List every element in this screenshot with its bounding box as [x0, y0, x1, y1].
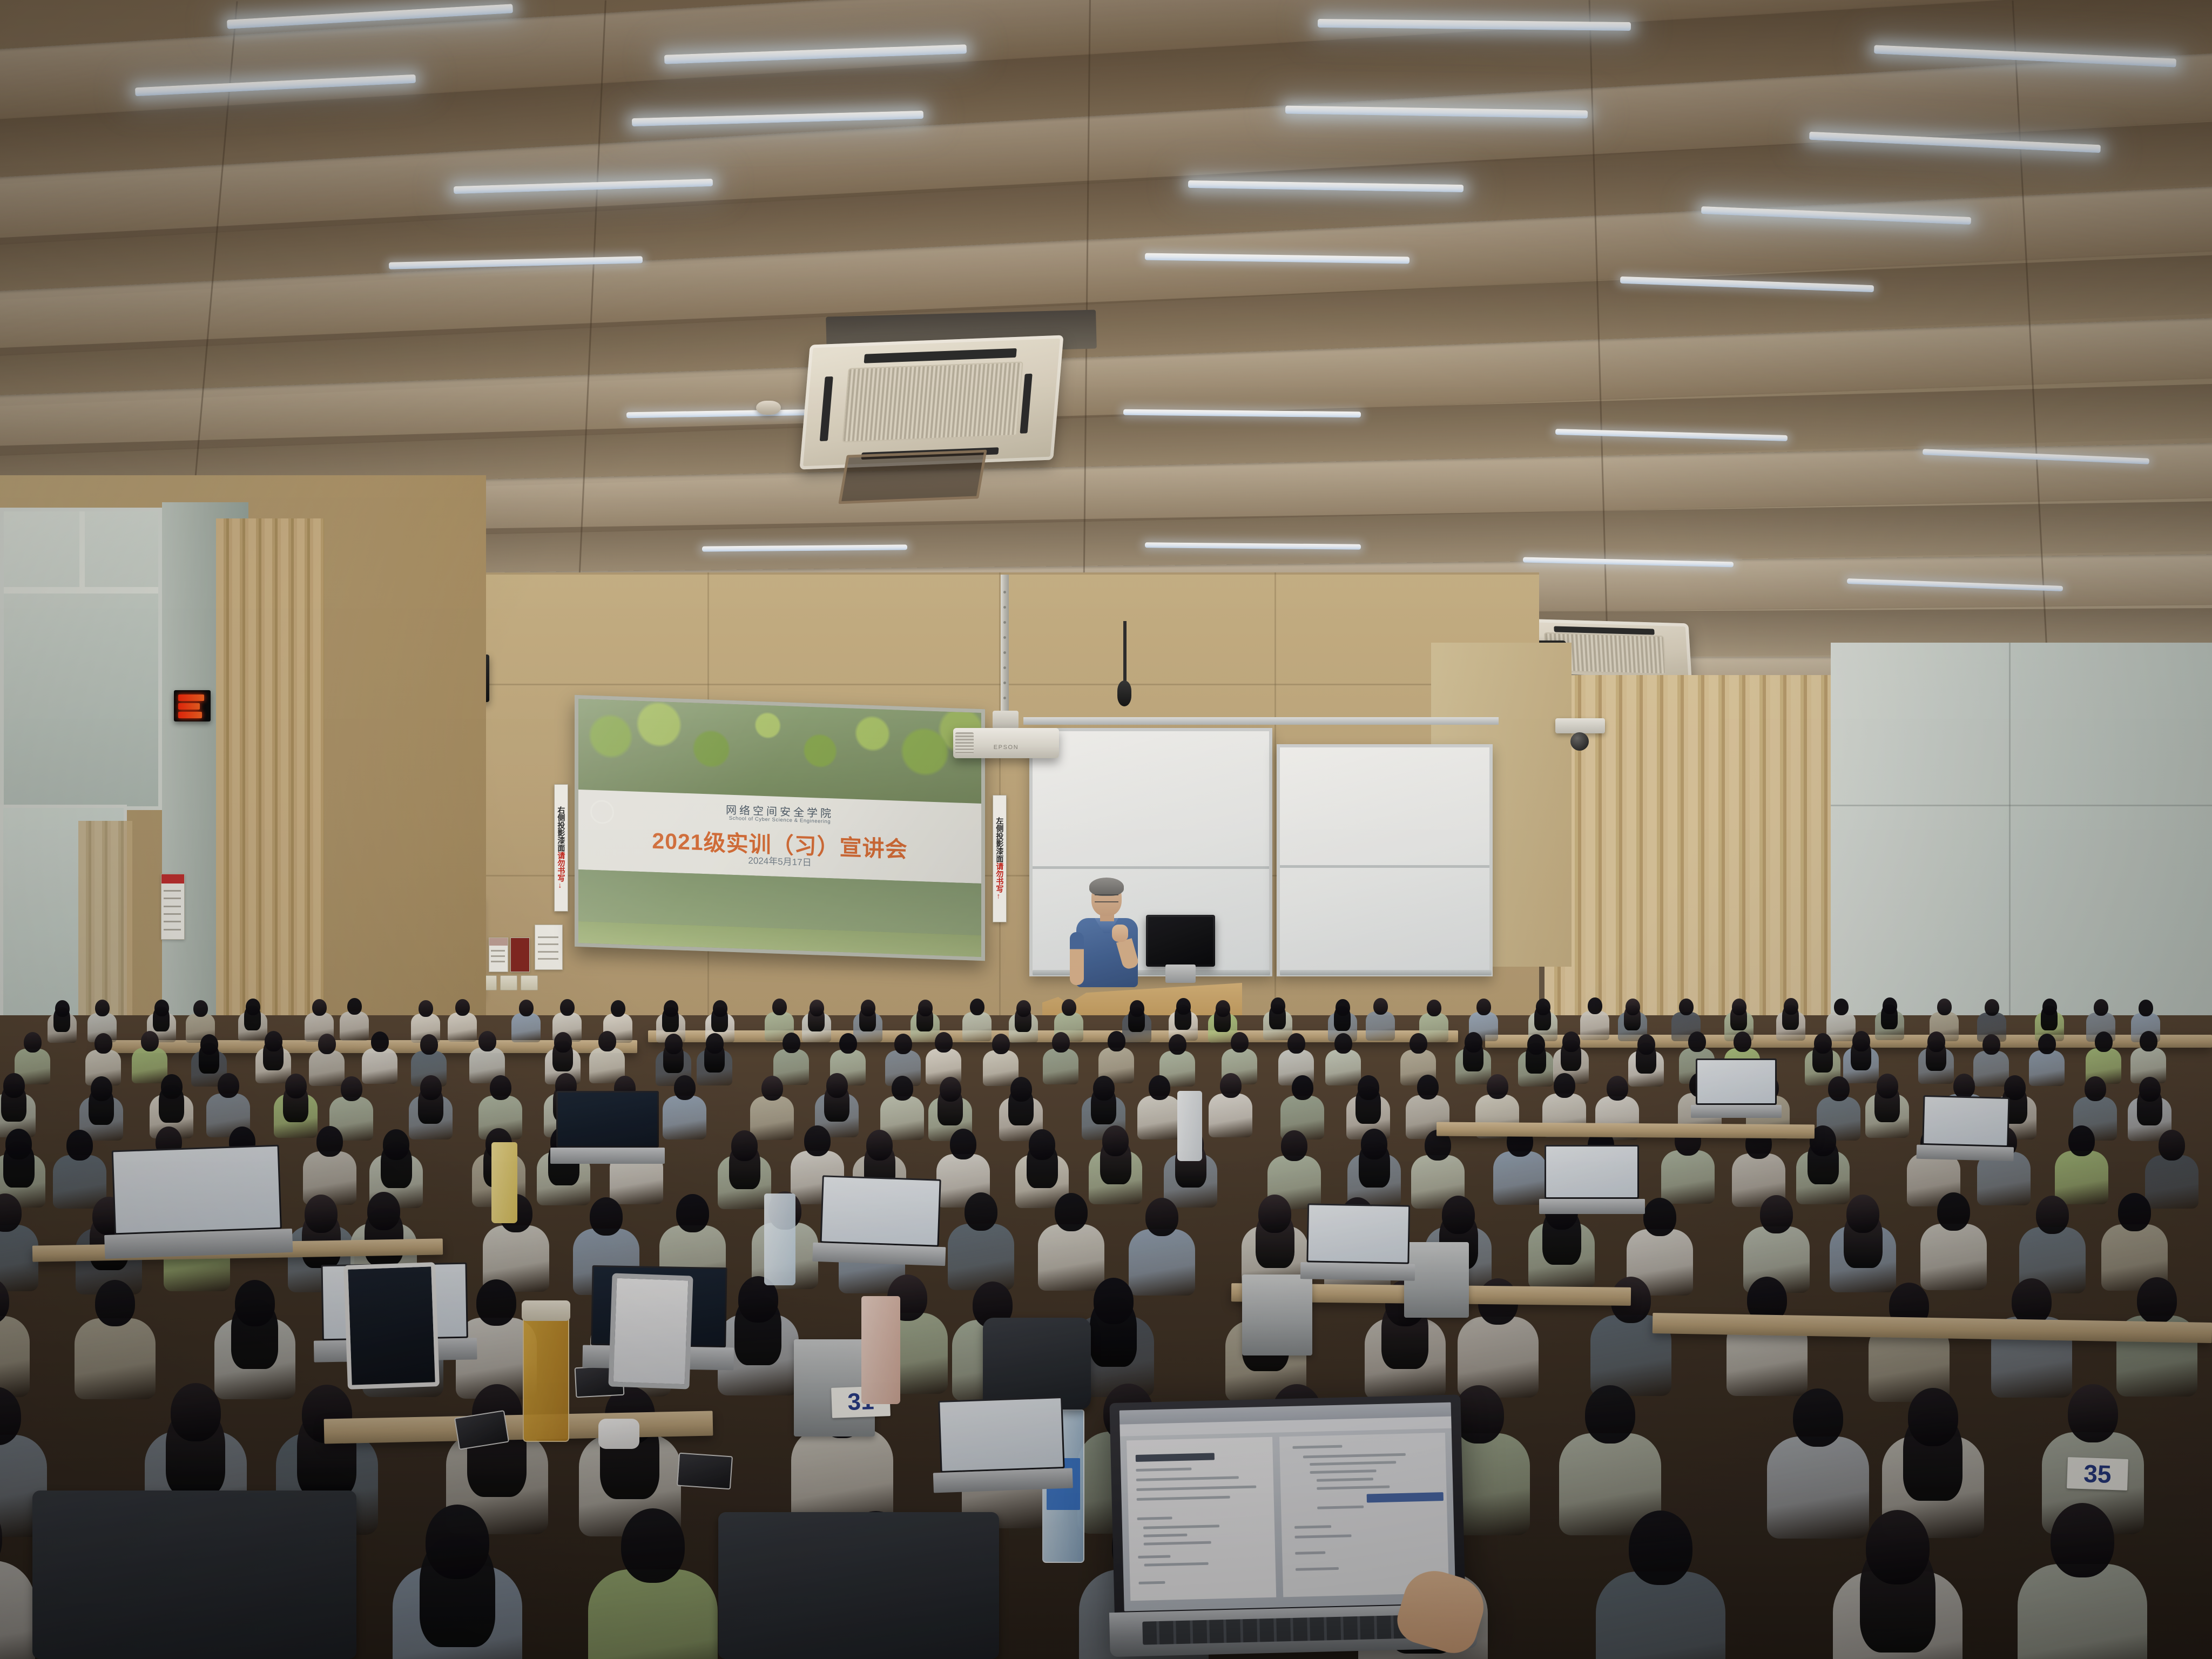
student	[1727, 1277, 1808, 1404]
student	[588, 1508, 718, 1659]
student-head	[1688, 1031, 1706, 1052]
student-head	[367, 1192, 400, 1230]
student-head	[1029, 1129, 1055, 1160]
student-head	[2068, 1384, 2118, 1442]
student-head	[1487, 1074, 1508, 1099]
student-head	[826, 1073, 848, 1098]
student	[511, 1000, 541, 1046]
student-head	[2038, 1034, 2056, 1054]
student-head	[1927, 1031, 1945, 1052]
student-head	[1287, 1033, 1305, 1054]
student-head	[316, 1126, 343, 1157]
student-head	[341, 1076, 362, 1101]
whiteboard-right	[1277, 744, 1493, 976]
student-head	[1679, 999, 1694, 1015]
student	[0, 1500, 35, 1659]
student-head	[810, 1000, 824, 1016]
desk-row	[1437, 1122, 1815, 1139]
student-head	[1793, 1388, 1843, 1447]
student-head	[1476, 999, 1491, 1015]
student	[393, 1505, 522, 1659]
student-head	[839, 1033, 857, 1054]
backpack	[983, 1318, 1091, 1410]
laptop[interactable]	[1696, 1058, 1777, 1118]
student-head	[1985, 999, 1999, 1016]
student-head	[1982, 1034, 2000, 1055]
student-head	[950, 1129, 976, 1159]
student-head	[2036, 1196, 2069, 1234]
student-head	[1883, 997, 1897, 1014]
student-torso	[1043, 1049, 1078, 1084]
student-head	[2094, 999, 2108, 1016]
student-head	[664, 1000, 678, 1017]
student-head	[2051, 1503, 2114, 1577]
student-head	[676, 1194, 709, 1232]
student-torso	[0, 1561, 35, 1659]
student	[1833, 1510, 1963, 1659]
student-head	[1937, 999, 1952, 1015]
student-head	[1334, 1033, 1352, 1054]
student-head	[285, 1074, 307, 1098]
student-head	[665, 1034, 683, 1054]
student-head	[1149, 1075, 1170, 1100]
student-head	[1442, 1196, 1475, 1234]
student-head	[66, 1130, 93, 1161]
student-head	[918, 1000, 933, 1016]
student-head	[861, 1000, 875, 1016]
student-head	[1094, 1278, 1134, 1324]
student-head	[1231, 1032, 1249, 1053]
student-head	[490, 1075, 511, 1100]
student-head	[1417, 1075, 1439, 1100]
student-head	[305, 1195, 338, 1233]
student-torso	[1920, 1224, 1987, 1290]
projector: EPSON	[953, 728, 1059, 758]
student-torso	[0, 1316, 30, 1397]
student-head	[1814, 1033, 1832, 1054]
student-head	[731, 1130, 758, 1161]
hanging-microphone-icon	[1117, 680, 1131, 706]
projector-brand-label: EPSON	[953, 744, 1059, 751]
student-head	[894, 1034, 912, 1054]
student-head	[892, 1076, 913, 1101]
student-head	[1176, 998, 1191, 1015]
student	[663, 1075, 706, 1144]
student-head	[1734, 1031, 1751, 1052]
foreground-laptop[interactable]	[1104, 1394, 1477, 1657]
student-head	[1852, 1031, 1870, 1051]
thermos-bottle	[861, 1296, 900, 1404]
student-head	[1102, 1125, 1129, 1156]
student-head	[1258, 1195, 1291, 1233]
student-head	[171, 1383, 221, 1441]
window-frosted-glass	[0, 508, 162, 810]
student-head	[2159, 1130, 2185, 1161]
tea-bottle	[523, 1316, 569, 1442]
microphone-cable	[1123, 621, 1127, 683]
student-head	[91, 1076, 112, 1101]
tablet[interactable]	[608, 1273, 693, 1389]
no-writing-sign-left: 右侧投影漆面 请勿书写→	[554, 784, 568, 912]
student-head	[1093, 1076, 1115, 1101]
student-head	[1373, 998, 1388, 1015]
student-head	[2012, 1278, 2052, 1325]
student-head	[2139, 1077, 2161, 1102]
student-head	[2137, 1277, 2177, 1324]
student-torso	[1366, 1011, 1395, 1041]
student-head	[2042, 999, 2057, 1015]
student	[1875, 997, 1904, 1043]
student-head	[193, 1000, 208, 1017]
student	[1596, 1510, 1725, 1659]
student-head	[1732, 999, 1746, 1015]
student-head	[3, 1073, 25, 1098]
student-head	[674, 1075, 696, 1100]
sign-right-warn: 请勿书写←	[996, 862, 1004, 900]
student-head	[940, 1077, 961, 1102]
security-camera-mount	[1555, 718, 1605, 733]
student-head	[383, 1129, 409, 1160]
student-head	[1016, 1000, 1031, 1017]
student	[1920, 1192, 1987, 1297]
security-camera-icon	[1570, 732, 1589, 751]
student-head	[419, 1000, 433, 1017]
whiteboard-rail	[1023, 717, 1499, 725]
student-head	[1554, 1073, 1575, 1098]
sign-right-plain: 左侧投影漆面	[996, 817, 1004, 862]
student-head	[761, 1076, 783, 1101]
laptop[interactable]	[112, 1145, 283, 1259]
student-head	[1465, 1032, 1482, 1053]
student	[0, 1278, 30, 1405]
student-head	[2004, 1075, 2026, 1100]
student-head	[426, 1505, 489, 1579]
projection-screen: 网络空间安全学院 School of Cyber Science & Engin…	[575, 695, 985, 961]
podium-monitor	[1146, 915, 1215, 967]
student-head	[2085, 1076, 2106, 1101]
student-head	[935, 1032, 953, 1053]
air-conditioner-unit	[799, 335, 1063, 470]
student-head	[866, 1130, 893, 1161]
laptop[interactable]	[1306, 1203, 1410, 1280]
student-head	[95, 1280, 135, 1326]
student-head	[970, 999, 984, 1015]
student-head	[200, 1034, 218, 1055]
wall-notice	[161, 874, 185, 940]
chair-back	[1242, 1274, 1312, 1355]
student-head	[1626, 999, 1640, 1015]
student-head	[24, 1032, 42, 1053]
student-head	[161, 1074, 183, 1099]
student-head	[772, 999, 787, 1015]
student-head	[1877, 1074, 1898, 1098]
student	[48, 1000, 77, 1046]
student-head	[519, 1000, 534, 1016]
student-head	[1216, 1000, 1230, 1017]
wall-notice	[510, 938, 530, 972]
projector-bracket	[993, 711, 1019, 729]
laptop[interactable]	[819, 1175, 941, 1266]
student-torso	[948, 1224, 1014, 1290]
student-head	[783, 1033, 800, 1053]
desk-number-35: 35	[2067, 1457, 2128, 1491]
student-head	[1834, 999, 1849, 1015]
presenter	[1067, 880, 1148, 988]
laptop[interactable]	[1545, 1145, 1639, 1214]
student	[1043, 1032, 1078, 1088]
earbuds-case	[598, 1419, 639, 1449]
student-head	[318, 1034, 336, 1054]
student-head	[1427, 1000, 1441, 1016]
student-head	[1536, 999, 1550, 1015]
sign-left-warn: 请勿书写→	[557, 852, 565, 889]
student-head	[621, 1508, 685, 1583]
student-head	[312, 999, 327, 1016]
student	[75, 1280, 156, 1407]
student-head	[598, 1031, 616, 1051]
student-head	[218, 1073, 239, 1098]
student-head	[1281, 1130, 1307, 1161]
laptop[interactable]	[556, 1091, 659, 1164]
student-head	[2118, 1193, 2151, 1231]
student-head	[1130, 1000, 1144, 1017]
student-head	[1336, 999, 1350, 1016]
student-head	[1361, 1129, 1387, 1159]
student	[1776, 998, 1805, 1044]
student-head	[371, 1031, 389, 1052]
editor-pane-left[interactable]	[1127, 1437, 1276, 1601]
student-head	[1866, 1510, 1930, 1584]
student-head	[2095, 1031, 2113, 1052]
student-head	[2139, 1000, 2153, 1016]
student-head	[1846, 1195, 1879, 1233]
student-head	[1637, 1034, 1655, 1055]
student-head	[1908, 1388, 1958, 1446]
backpack	[718, 1512, 999, 1659]
student-head	[1358, 1075, 1379, 1100]
student-head	[55, 1000, 70, 1017]
student-head	[95, 1033, 112, 1054]
student-head	[2068, 1125, 2095, 1156]
student-head	[554, 1032, 572, 1053]
student-torso	[1661, 1150, 1715, 1204]
wall-notice	[489, 938, 508, 972]
student-head	[1562, 1031, 1580, 1052]
student-head	[478, 1031, 496, 1051]
wall-notice	[535, 925, 563, 970]
student-head	[1055, 1193, 1088, 1231]
no-writing-sign-right: 左侧投影漆面 请勿书写←	[993, 795, 1007, 922]
presenter-glasses-icon	[1095, 894, 1118, 902]
student-head	[1643, 1198, 1676, 1236]
student-head	[95, 1000, 110, 1016]
student-torso	[2018, 1564, 2147, 1659]
student-head	[706, 1033, 724, 1054]
student-head	[992, 1034, 1010, 1054]
podium-monitor-stand	[1165, 965, 1196, 983]
student-head	[1220, 1073, 1242, 1098]
student-head	[1062, 999, 1076, 1016]
laptop[interactable]	[1921, 1095, 2009, 1161]
student-head	[1588, 997, 1602, 1014]
student-head	[265, 1031, 282, 1051]
smartphone[interactable]	[677, 1453, 733, 1490]
student-head	[1169, 1034, 1186, 1055]
student-head	[455, 999, 470, 1016]
student	[1865, 1074, 1909, 1142]
desk-number-35-label: 35	[2083, 1459, 2112, 1489]
student	[718, 1276, 799, 1404]
student-head	[154, 1000, 169, 1016]
backpack	[32, 1491, 356, 1659]
student-head	[476, 1279, 516, 1326]
student-head	[420, 1034, 438, 1055]
student-head	[611, 1000, 625, 1017]
student-head	[141, 1031, 159, 1051]
laptop[interactable]	[938, 1397, 1065, 1493]
smoke-detector-icon	[756, 401, 781, 415]
student-head	[235, 1280, 275, 1326]
student-head	[1585, 1385, 1635, 1444]
sign-left-plain: 右侧投影漆面	[557, 806, 565, 852]
student-head	[1760, 1195, 1793, 1233]
student-head	[1271, 997, 1285, 1014]
student-torso	[663, 1096, 706, 1139]
student-head	[590, 1197, 623, 1236]
student	[1366, 998, 1395, 1044]
student-head	[2140, 1031, 2157, 1051]
student-head	[1937, 1192, 1970, 1231]
student-head	[420, 1075, 442, 1100]
student-head	[1145, 1198, 1178, 1236]
projector-pole-mount	[1001, 575, 1009, 715]
student-head	[1607, 1076, 1628, 1101]
water-bottle	[1177, 1091, 1202, 1161]
student-head	[804, 1125, 831, 1156]
student-head	[347, 998, 362, 1015]
student	[2018, 1503, 2147, 1659]
student-torso	[75, 1318, 156, 1399]
student-head	[1828, 1076, 1850, 1101]
student-head	[560, 999, 575, 1016]
student-head	[1410, 1033, 1427, 1054]
student-head	[1108, 1031, 1125, 1051]
student-head	[5, 1129, 32, 1159]
laptop-screen[interactable]	[1120, 1402, 1456, 1611]
student-head	[1784, 998, 1798, 1015]
student-head	[1292, 1075, 1313, 1100]
tablet[interactable]	[343, 1262, 440, 1390]
lecture-hall-photo: 网络空间安全学院 School of Cyber Science & Engin…	[0, 0, 2212, 1659]
student-torso	[511, 1013, 541, 1042]
drink-bottle	[491, 1142, 517, 1223]
student-head	[713, 1000, 727, 1017]
led-display	[174, 690, 211, 721]
student-head	[1527, 1034, 1545, 1055]
whiteboard-tray	[1280, 970, 1492, 975]
student-head	[1052, 1032, 1070, 1053]
student-head	[965, 1192, 997, 1231]
water-bottle	[764, 1193, 795, 1285]
student-head	[1953, 1074, 1975, 1098]
student-head	[246, 999, 260, 1015]
student-head	[1629, 1510, 1692, 1585]
student-head	[1010, 1077, 1032, 1102]
